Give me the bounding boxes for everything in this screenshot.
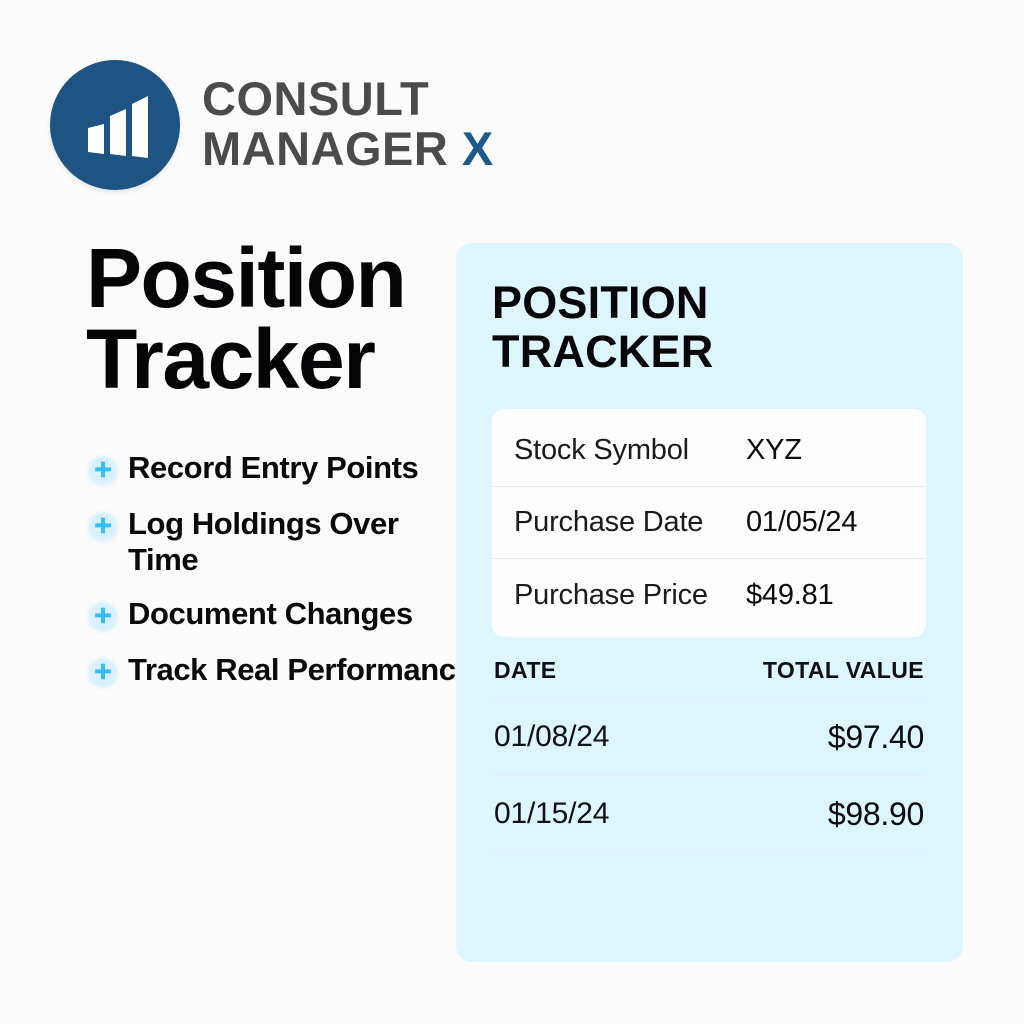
poster-root: CONSULT MANAGER X Position Tracker Recor… [0, 0, 1024, 1024]
page-title: Position Tracker [86, 238, 486, 401]
table-row: 01/08/24 $97.40 [492, 699, 926, 776]
feature-list: Record Entry Points Log Holdings Over Ti… [86, 450, 476, 690]
brand-lockup: CONSULT MANAGER X [50, 60, 494, 190]
plus-icon [86, 656, 120, 690]
brand-wordmark: CONSULT MANAGER X [202, 77, 494, 173]
brand-line-1: CONSULT [202, 77, 494, 121]
cell-total-value: $97.40 [828, 719, 924, 756]
table-row: Purchase Date 01/05/24 [492, 487, 926, 559]
brand-line-2: MANAGER X [202, 127, 494, 171]
table-row: Purchase Price $49.81 [492, 559, 926, 631]
panel-title: POSITION TRACKER [492, 279, 912, 376]
column-header-total-value: TOTAL VALUE [763, 657, 924, 684]
info-value: $49.81 [746, 579, 834, 612]
list-item: Record Entry Points [86, 450, 476, 488]
list-item: Document Changes [86, 596, 476, 634]
logo-badge [50, 60, 180, 190]
cell-date: 01/08/24 [494, 720, 609, 754]
brand-word-manager: MANAGER [202, 122, 448, 175]
info-key: Stock Symbol [514, 434, 746, 467]
table-row: 01/15/24 $98.90 [492, 776, 926, 853]
position-tracker-panel: POSITION TRACKER Stock Symbol XYZ Purcha… [456, 243, 963, 962]
feature-label: Record Entry Points [128, 450, 418, 486]
feature-label: Document Changes [128, 596, 413, 632]
cell-date: 01/15/24 [494, 797, 609, 831]
table-header-row: DATE TOTAL VALUE [492, 657, 926, 699]
feature-label: Track Real Performance [128, 652, 472, 688]
feature-label: Log Holdings Over Time [128, 506, 476, 578]
info-value: 01/05/24 [746, 506, 857, 539]
value-history-table: DATE TOTAL VALUE 01/08/24 $97.40 01/15/2… [492, 657, 926, 853]
info-key: Purchase Date [514, 506, 746, 539]
info-value: XYZ [746, 434, 802, 467]
list-item: Log Holdings Over Time [86, 506, 476, 578]
plus-icon [86, 510, 120, 544]
list-item: Track Real Performance [86, 652, 476, 690]
column-header-date: DATE [494, 657, 557, 684]
table-row: Stock Symbol XYZ [492, 415, 926, 487]
position-summary-card: Stock Symbol XYZ Purchase Date 01/05/24 … [492, 409, 926, 637]
plus-icon [86, 454, 120, 488]
plus-icon [86, 600, 120, 634]
info-key: Purchase Price [514, 579, 746, 612]
brand-word-x: X [462, 122, 494, 175]
cell-total-value: $98.90 [828, 796, 924, 833]
